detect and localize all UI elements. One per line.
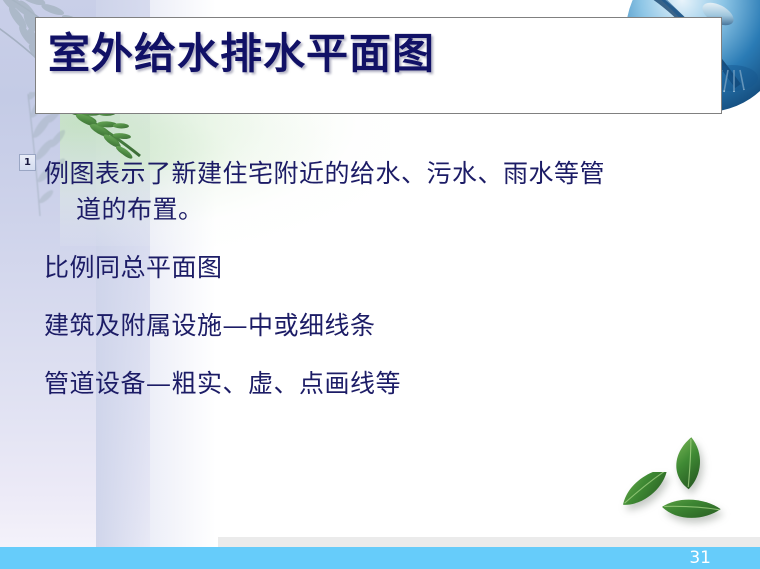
body-paragraph-1: 例图表示了新建住宅附近的给水、污水、雨水等管道的布置。 bbox=[44, 156, 724, 228]
page-title: 室外给水排水平面图 bbox=[48, 28, 435, 80]
slide-canvas: 室外给水排水平面图 1 例图表示了新建住宅附近的给水、污水、雨水等管道的布置。 … bbox=[0, 0, 760, 569]
slide-body: 例图表示了新建住宅附近的给水、污水、雨水等管道的布置。 比例同总平面图 建筑及附… bbox=[44, 156, 744, 402]
leaf-icon bbox=[660, 495, 722, 531]
body-paragraph-3: 建筑及附属设施—中或细线条 bbox=[44, 308, 744, 344]
title-box: 室外给水排水平面图 bbox=[35, 17, 722, 114]
body-paragraph-1-line-1: 例图表示了新建住宅附近的给水、污水、雨水等管 bbox=[44, 159, 605, 188]
bullet-number-marker: 1 bbox=[19, 154, 36, 171]
footer-grey-strip bbox=[218, 537, 760, 547]
leaf-icon bbox=[665, 435, 709, 495]
body-paragraph-2: 比例同总平面图 bbox=[44, 250, 744, 286]
page-number: 31 bbox=[0, 548, 711, 568]
body-paragraph-4: 管道设备—粗实、虚、点画线等 bbox=[44, 366, 744, 402]
body-paragraph-1-line-2: 道的布置。 bbox=[44, 192, 724, 228]
